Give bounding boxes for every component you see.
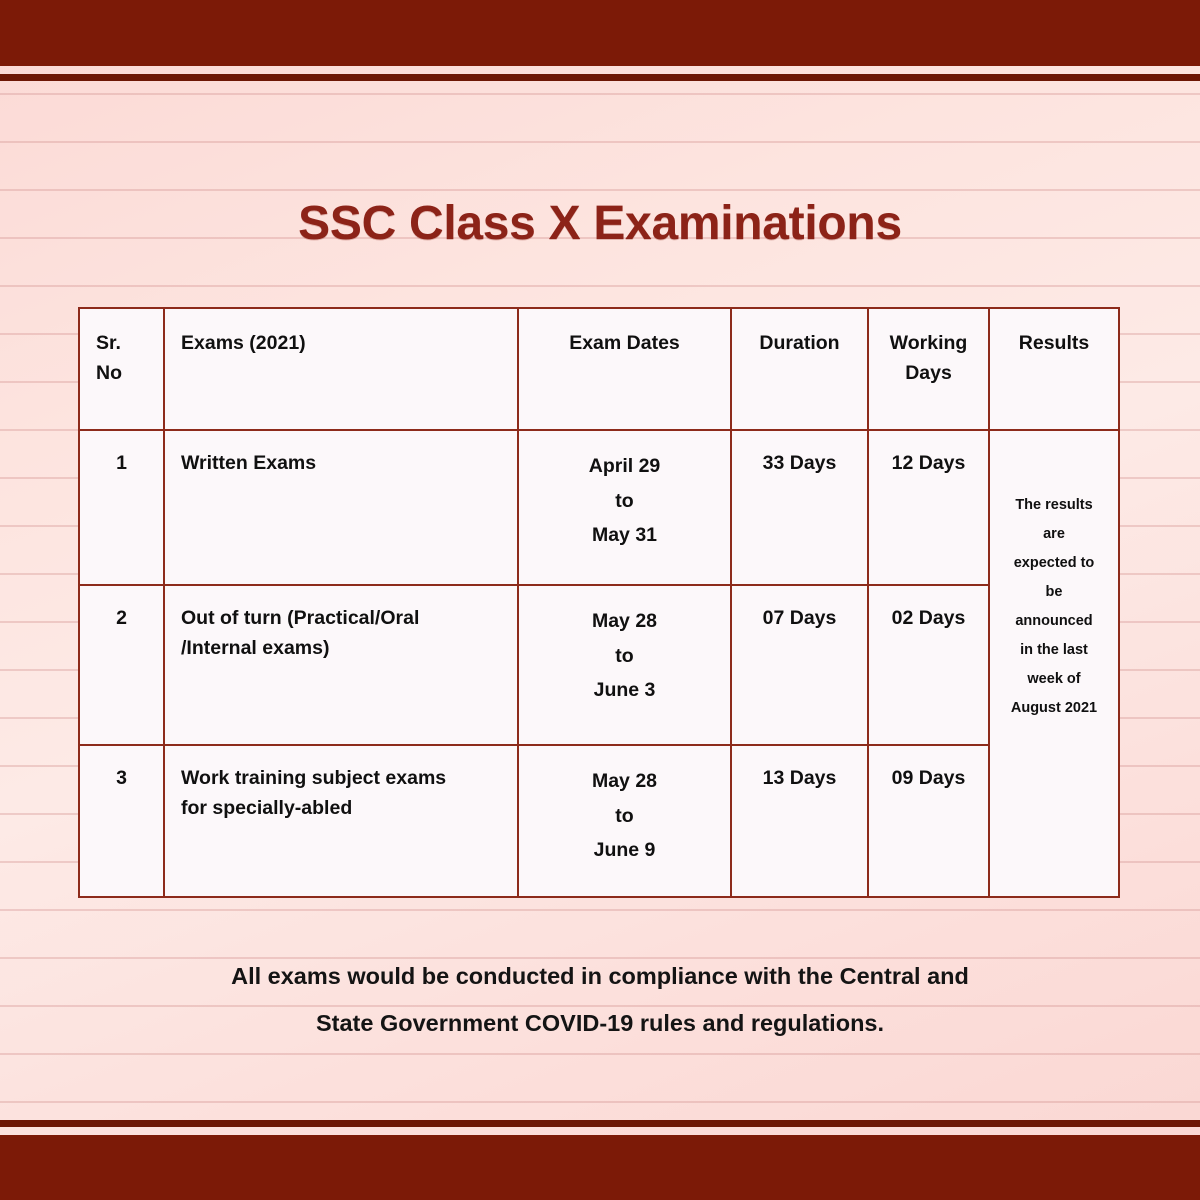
cell-duration: 07 Days [731, 585, 868, 745]
column-header-working-days-label: Working Days [869, 309, 988, 388]
cell-exam-name-value: Written Exams [165, 431, 517, 479]
cell-sr-no: 1 [79, 430, 164, 585]
results-line: August 2021 [998, 694, 1110, 723]
cell-sr-no: 2 [79, 585, 164, 745]
exam-name-line-2: for specially-abled [181, 794, 505, 824]
cell-working-days: 12 Days [868, 430, 989, 585]
cell-exam-name-value: Out of turn (Practical/Oral /Internal ex… [165, 586, 517, 663]
column-header-results-label: Results [990, 309, 1118, 359]
schedule-table-wrapper: Sr. No Exams (2021) Exam Dates Duration … [78, 307, 1118, 898]
cell-exam-dates: May 28 to June 3 [518, 585, 731, 745]
poster-root: SSC Class X Examinations Sr. No Exams (2… [0, 0, 1200, 1200]
column-header-results: Results [989, 308, 1119, 430]
cell-exam-dates-value: April 29 to May 31 [519, 431, 730, 553]
exam-date-start: April 29 [531, 449, 718, 484]
cell-working-days: 09 Days [868, 745, 989, 897]
cell-exam-name: Written Exams [164, 430, 518, 585]
cell-results: The results are expected to be announced… [989, 430, 1119, 897]
column-header-exams-label: Exams (2021) [165, 309, 517, 359]
compliance-note-line-1: All exams would be conducted in complian… [100, 953, 1100, 1000]
top-rule-line [0, 74, 1200, 81]
exam-date-separator: to [531, 484, 718, 519]
column-header-exam-dates: Exam Dates [518, 308, 731, 430]
exam-name-line-2: /Internal exams) [181, 634, 505, 664]
results-line: in the last [998, 636, 1110, 665]
results-line: expected to [998, 549, 1110, 578]
results-line: week of [998, 665, 1110, 694]
compliance-note: All exams would be conducted in complian… [100, 953, 1100, 1047]
cell-exam-name: Out of turn (Practical/Oral /Internal ex… [164, 585, 518, 745]
exam-date-start: May 28 [531, 764, 718, 799]
cell-sr-no-value: 3 [80, 746, 163, 794]
table-body: 1 Written Exams April 29 to May 31 [79, 430, 1119, 897]
cell-exam-name-value: Work training subject exams for speciall… [165, 746, 517, 823]
column-header-exams: Exams (2021) [164, 308, 518, 430]
cell-sr-no: 3 [79, 745, 164, 897]
compliance-note-line-2: State Government COVID-19 rules and regu… [100, 1000, 1100, 1047]
exam-date-end: June 3 [531, 673, 718, 708]
cell-working-days-value: 02 Days [869, 586, 988, 634]
results-line: announced [998, 607, 1110, 636]
cell-sr-no-value: 1 [80, 431, 163, 479]
results-line: are [998, 520, 1110, 549]
column-header-working-days: Working Days [868, 308, 989, 430]
exam-date-start: May 28 [531, 604, 718, 639]
results-line: The results [998, 491, 1110, 520]
cell-exam-dates: April 29 to May 31 [518, 430, 731, 585]
cell-sr-no-value: 2 [80, 586, 163, 634]
cell-working-days: 02 Days [868, 585, 989, 745]
top-decorative-band [0, 0, 1200, 66]
table-header: Sr. No Exams (2021) Exam Dates Duration … [79, 308, 1119, 430]
exam-date-separator: to [531, 639, 718, 674]
exam-name-line-1: Out of turn (Practical/Oral [181, 604, 505, 634]
cell-results-value: The results are expected to be announced… [990, 431, 1118, 723]
column-header-duration: Duration [731, 308, 868, 430]
results-line: be [998, 578, 1110, 607]
bottom-decorative-band [0, 1135, 1200, 1200]
cell-duration: 33 Days [731, 430, 868, 585]
table-row: 2 Out of turn (Practical/Oral /Internal … [79, 585, 1119, 745]
bottom-rule-line [0, 1120, 1200, 1127]
cell-working-days-value: 09 Days [869, 746, 988, 794]
table-header-row: Sr. No Exams (2021) Exam Dates Duration … [79, 308, 1119, 430]
exam-name-line-1: Written Exams [181, 452, 316, 474]
cell-duration-value: 13 Days [732, 746, 867, 794]
exam-name-line-1: Work training subject exams [181, 764, 505, 794]
table-row: 1 Written Exams April 29 to May 31 [79, 430, 1119, 585]
exam-date-end: May 31 [531, 518, 718, 553]
cell-duration-value: 07 Days [732, 586, 867, 634]
column-header-sr-no: Sr. No [79, 308, 164, 430]
cell-duration-value: 33 Days [732, 431, 867, 479]
column-header-exam-dates-label: Exam Dates [519, 309, 730, 359]
cell-working-days-value: 12 Days [869, 431, 988, 479]
exam-schedule-table: Sr. No Exams (2021) Exam Dates Duration … [78, 307, 1120, 898]
cell-duration: 13 Days [731, 745, 868, 897]
column-header-duration-label: Duration [732, 309, 867, 359]
cell-exam-dates: May 28 to June 9 [518, 745, 731, 897]
cell-exam-dates-value: May 28 to June 9 [519, 746, 730, 868]
table-row: 3 Work training subject exams for specia… [79, 745, 1119, 897]
cell-exam-dates-value: May 28 to June 3 [519, 586, 730, 708]
column-header-sr-no-label: Sr. No [80, 309, 163, 388]
exam-date-end: June 9 [531, 833, 718, 868]
exam-date-separator: to [531, 799, 718, 834]
cell-exam-name: Work training subject exams for speciall… [164, 745, 518, 897]
page-title: SSC Class X Examinations [0, 196, 1200, 251]
